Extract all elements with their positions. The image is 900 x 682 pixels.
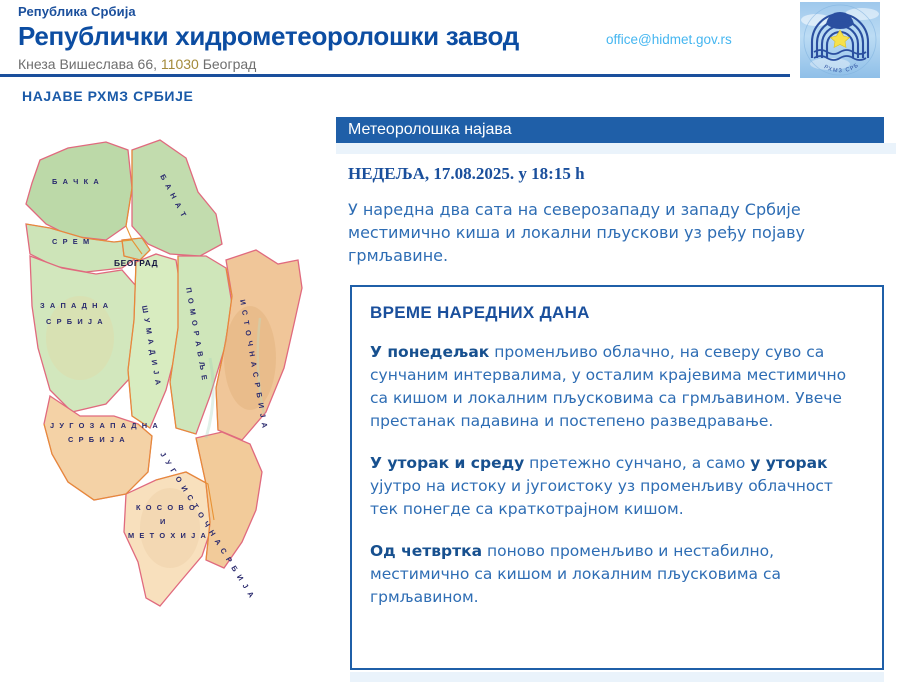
header-org-block: Република Србија Републички хидрометеоро… xyxy=(18,4,578,73)
header-divider xyxy=(0,74,790,77)
day-lead-tuewed: У уторак и среду xyxy=(370,454,524,472)
rhmz-serbia-logo: РХМЗ СРБИЈЕ xyxy=(800,2,880,78)
day-lead-thursday: Од четвртка xyxy=(370,542,482,560)
address-city: Београд xyxy=(203,56,257,72)
page-header: Република Србија Републички хидрометеоро… xyxy=(0,0,900,82)
announcement-datetime: НЕДЕЉА, 17.08.2025. у 18:15 h xyxy=(348,164,884,184)
najave-section-title: НАЈАВЕ РХМЗ СРБИЈЕ xyxy=(22,88,193,104)
address-zip: 11030 xyxy=(161,56,199,72)
forecast-panel: Метеоролошка најава НЕДЕЉА, 17.08.2025. … xyxy=(336,117,896,682)
map-label-zapadna-srbija-1: З А П А Д Н А xyxy=(40,301,110,310)
announcement-block: НЕДЕЉА, 17.08.2025. у 18:15 h У наредна … xyxy=(336,154,896,267)
map-label-zapadna-srbija-2: С Р Б И Ј А xyxy=(46,317,104,326)
org-address: Кнеза Вишеслава 66, 11030 Београд xyxy=(18,55,578,73)
map-label-srem: С Р Е М xyxy=(52,237,91,246)
org-country-label: Република Србија xyxy=(18,4,578,20)
contact-email-link[interactable]: office@hidmet.gov.rs xyxy=(606,32,732,47)
map-label-backa: Б А Ч К А xyxy=(52,177,100,186)
day-rest-tuewed: ујутро на истоку и југоистоку уз променљ… xyxy=(370,477,833,518)
serbia-regions-map[interactable]: Б А Ч К А Б А Н А Т С Р Е М БЕОГРАД З А … xyxy=(10,128,320,668)
map-label-kosovo-metohija-1: К О С О В О xyxy=(136,503,196,512)
map-label-jugozapadna-srbija-1: Ј У Г О З А П А Д Н А xyxy=(50,421,159,430)
forecast-bar-underline xyxy=(336,143,896,154)
org-title: Републички хидрометеоролошки завод xyxy=(18,21,578,52)
day-paragraph-monday: У понедељак променљиво облачно, на север… xyxy=(370,341,864,433)
day-paragraph-tuesday-wednesday: У уторак и среду претежно сунчано, а сам… xyxy=(370,452,864,521)
day-lead2-tuesday: у уторак xyxy=(750,454,827,472)
address-street: Кнеза Вишеслава 66, xyxy=(18,56,157,72)
forecast-bar-title: Метеоролошка најава xyxy=(336,117,884,143)
day-paragraph-thursday: Од четвртка поново променљиво и нестабил… xyxy=(370,540,864,609)
day-mid-tuewed: претежно сунчано, а само xyxy=(524,454,750,472)
coming-days-box: ВРЕМЕ НАРЕДНИХ ДАНА У понедељак променљи… xyxy=(350,285,884,670)
announcement-text: У наредна два сата на северозападу и зап… xyxy=(348,198,884,267)
day-lead-monday: У понедељак xyxy=(370,343,489,361)
map-region-backa xyxy=(26,142,132,240)
map-label-kosovo-metohija-3: М Е Т О Х И Ј А xyxy=(128,531,207,540)
bottom-strip xyxy=(350,672,884,682)
map-label-beograd: БЕОГРАД xyxy=(114,258,158,268)
map-label-jugozapadna-srbija-2: С Р Б И Ј А xyxy=(68,435,126,444)
map-label-kosovo-metohija-2: И xyxy=(160,517,167,526)
coming-days-title: ВРЕМЕ НАРЕДНИХ ДАНА xyxy=(370,303,864,323)
